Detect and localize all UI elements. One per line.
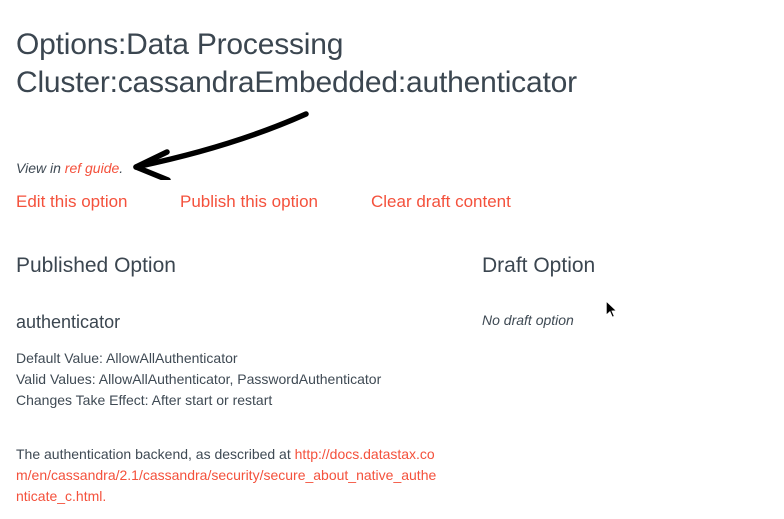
publish-this-option-link[interactable]: Publish this option: [180, 190, 318, 214]
options-detail-page: Options:Data Processing Cluster:cassandr…: [0, 0, 784, 519]
option-metadata-list: Default Value: AllowAllAuthenticator Val…: [16, 348, 466, 411]
metadata-changes-take-effect: Changes Take Effect: After start or rest…: [16, 390, 466, 411]
view-in-label: View in: [16, 160, 65, 176]
metadata-default-value: Default Value: AllowAllAuthenticator: [16, 348, 466, 369]
view-in-ref-guide: View in ref guide.: [16, 159, 123, 177]
published-option-heading: Published Option: [16, 252, 466, 280]
description-text: The authentication backend, as described…: [16, 446, 295, 462]
draft-option-column: Draft Option No draft option: [482, 252, 762, 330]
description-period: .: [102, 488, 106, 504]
metadata-valid-values: Valid Values: AllowAllAuthenticator, Pas…: [16, 369, 466, 390]
edit-this-option-link[interactable]: Edit this option: [16, 190, 128, 214]
option-name-heading: authenticator: [16, 310, 466, 334]
page-title: Options:Data Processing Cluster:cassandr…: [16, 26, 756, 102]
curved-arrow-annotation-icon: [120, 104, 320, 180]
ref-guide-link[interactable]: ref guide: [65, 160, 119, 176]
no-draft-option-message: No draft option: [482, 310, 762, 330]
clear-draft-content-link[interactable]: Clear draft content: [371, 190, 511, 214]
page-title-line-1: Options:Data Processing: [16, 26, 756, 64]
ref-guide-period: .: [119, 160, 123, 176]
draft-option-heading: Draft Option: [482, 252, 762, 280]
action-links-row: Edit this option Publish this option Cle…: [16, 190, 756, 214]
published-option-column: Published Option authenticator Default V…: [16, 252, 466, 507]
page-title-line-2: Cluster:cassandraEmbedded:authenticator: [16, 64, 756, 102]
option-description: The authentication backend, as described…: [16, 444, 441, 507]
